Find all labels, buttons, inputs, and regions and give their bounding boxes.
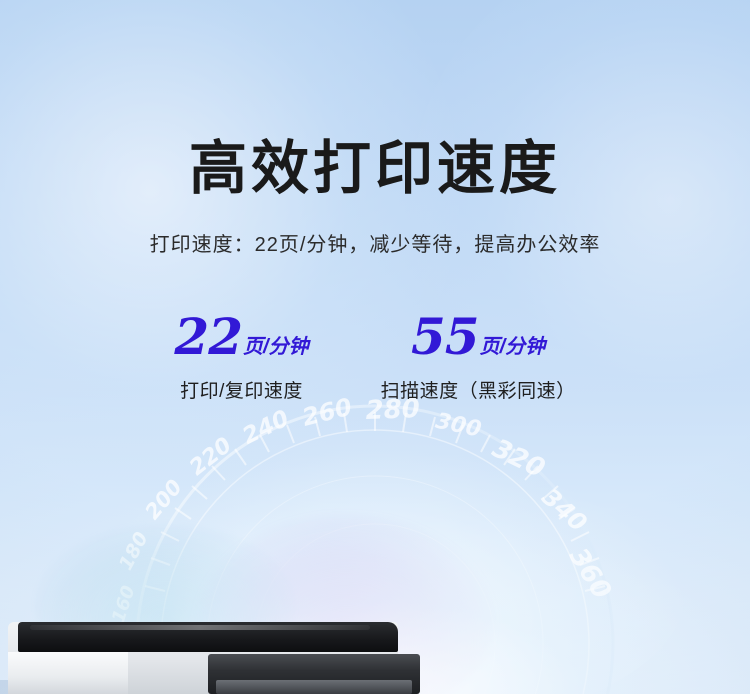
stats-row: 22 页/分钟 打印/复印速度 55 页/分钟 扫描速度（黑彩同速）: [0, 308, 750, 403]
printer-left-panel: [8, 652, 128, 694]
stat-caption: 打印/复印速度: [174, 376, 308, 403]
printer-top-highlight: [30, 625, 370, 630]
stat-unit: 页/分钟: [480, 337, 546, 362]
stat-caption: 扫描速度（黑彩同速）: [381, 376, 576, 403]
page-subtitle: 打印速度：22页/分钟，减少等待，提高办公效率: [0, 228, 750, 257]
promo-banner: 160 180 200 220 240 260 280 300 320 340 …: [0, 0, 750, 694]
stat-unit: 页/分钟: [243, 337, 309, 362]
stat-print-speed: 22 页/分钟 打印/复印速度: [174, 308, 308, 403]
printer-tray-lip: [216, 680, 412, 694]
stat-number: 55: [411, 312, 479, 362]
stat-number: 22: [174, 312, 242, 362]
stat-value-row: 22 页/分钟: [174, 308, 308, 362]
stat-scan-speed: 55 页/分钟 扫描速度（黑彩同速）: [381, 308, 576, 403]
printer-product-image: [0, 622, 750, 694]
stat-value-row: 55 页/分钟: [381, 308, 576, 362]
page-title: 高效打印速度: [0, 140, 750, 198]
